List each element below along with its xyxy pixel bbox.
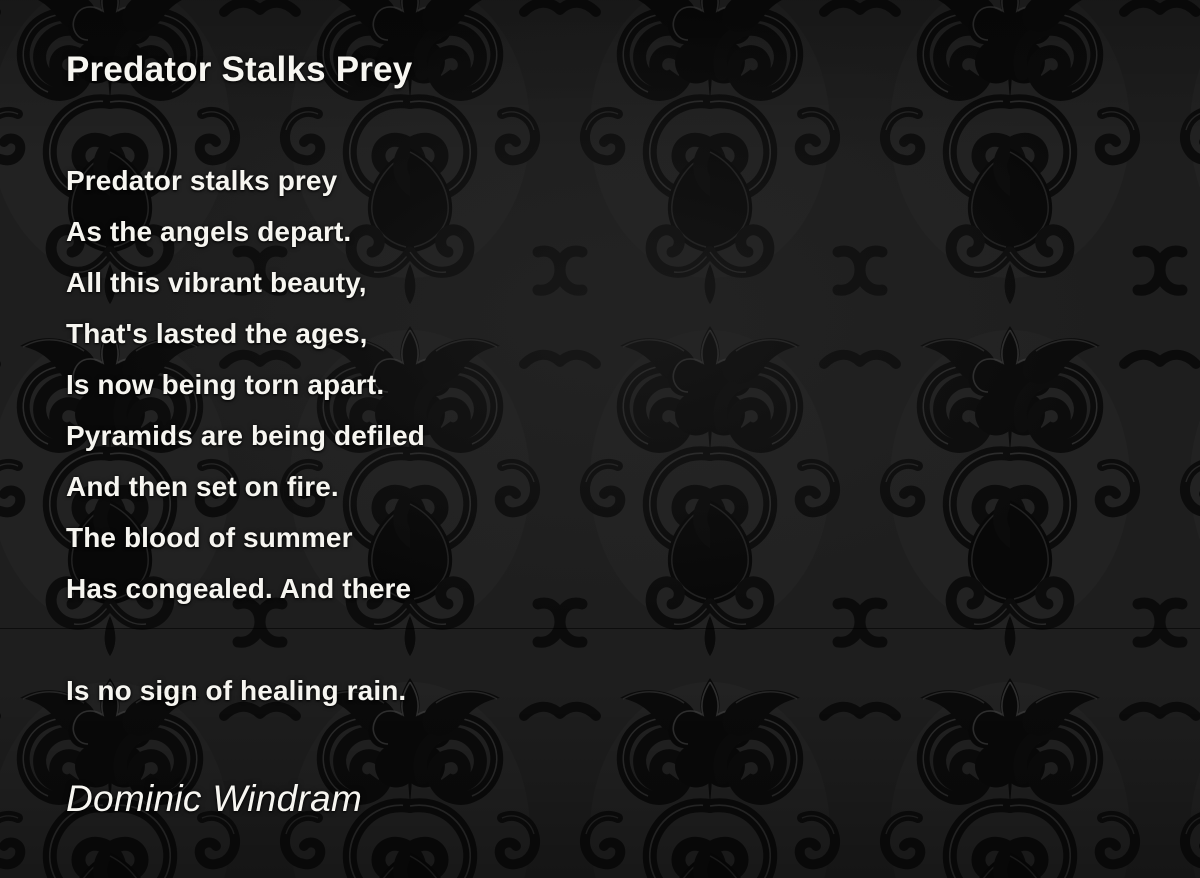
poem-author: Dominic Windram bbox=[66, 778, 362, 820]
poem-body: Predator stalks prey As the angels depar… bbox=[66, 155, 425, 716]
poem-line: Predator stalks prey bbox=[66, 155, 425, 206]
poem-line: All this vibrant beauty, bbox=[66, 257, 425, 308]
poem-line: Is now being torn apart. bbox=[66, 359, 425, 410]
poem-line: Pyramids are being defiled bbox=[66, 410, 425, 461]
poem-line: The blood of summer bbox=[66, 512, 425, 563]
poem-stanza-break bbox=[66, 614, 425, 665]
poem-line: As the angels depart. bbox=[66, 206, 425, 257]
poem-line: That's lasted the ages, bbox=[66, 308, 425, 359]
poem-line: Has congealed. And there bbox=[66, 563, 425, 614]
poem-line: And then set on fire. bbox=[66, 461, 425, 512]
poem-title: Predator Stalks Prey bbox=[66, 50, 412, 90]
poem-image-card: Predator Stalks Prey Predator stalks pre… bbox=[0, 0, 1200, 878]
poem-line: Is no sign of healing rain. bbox=[66, 665, 425, 716]
